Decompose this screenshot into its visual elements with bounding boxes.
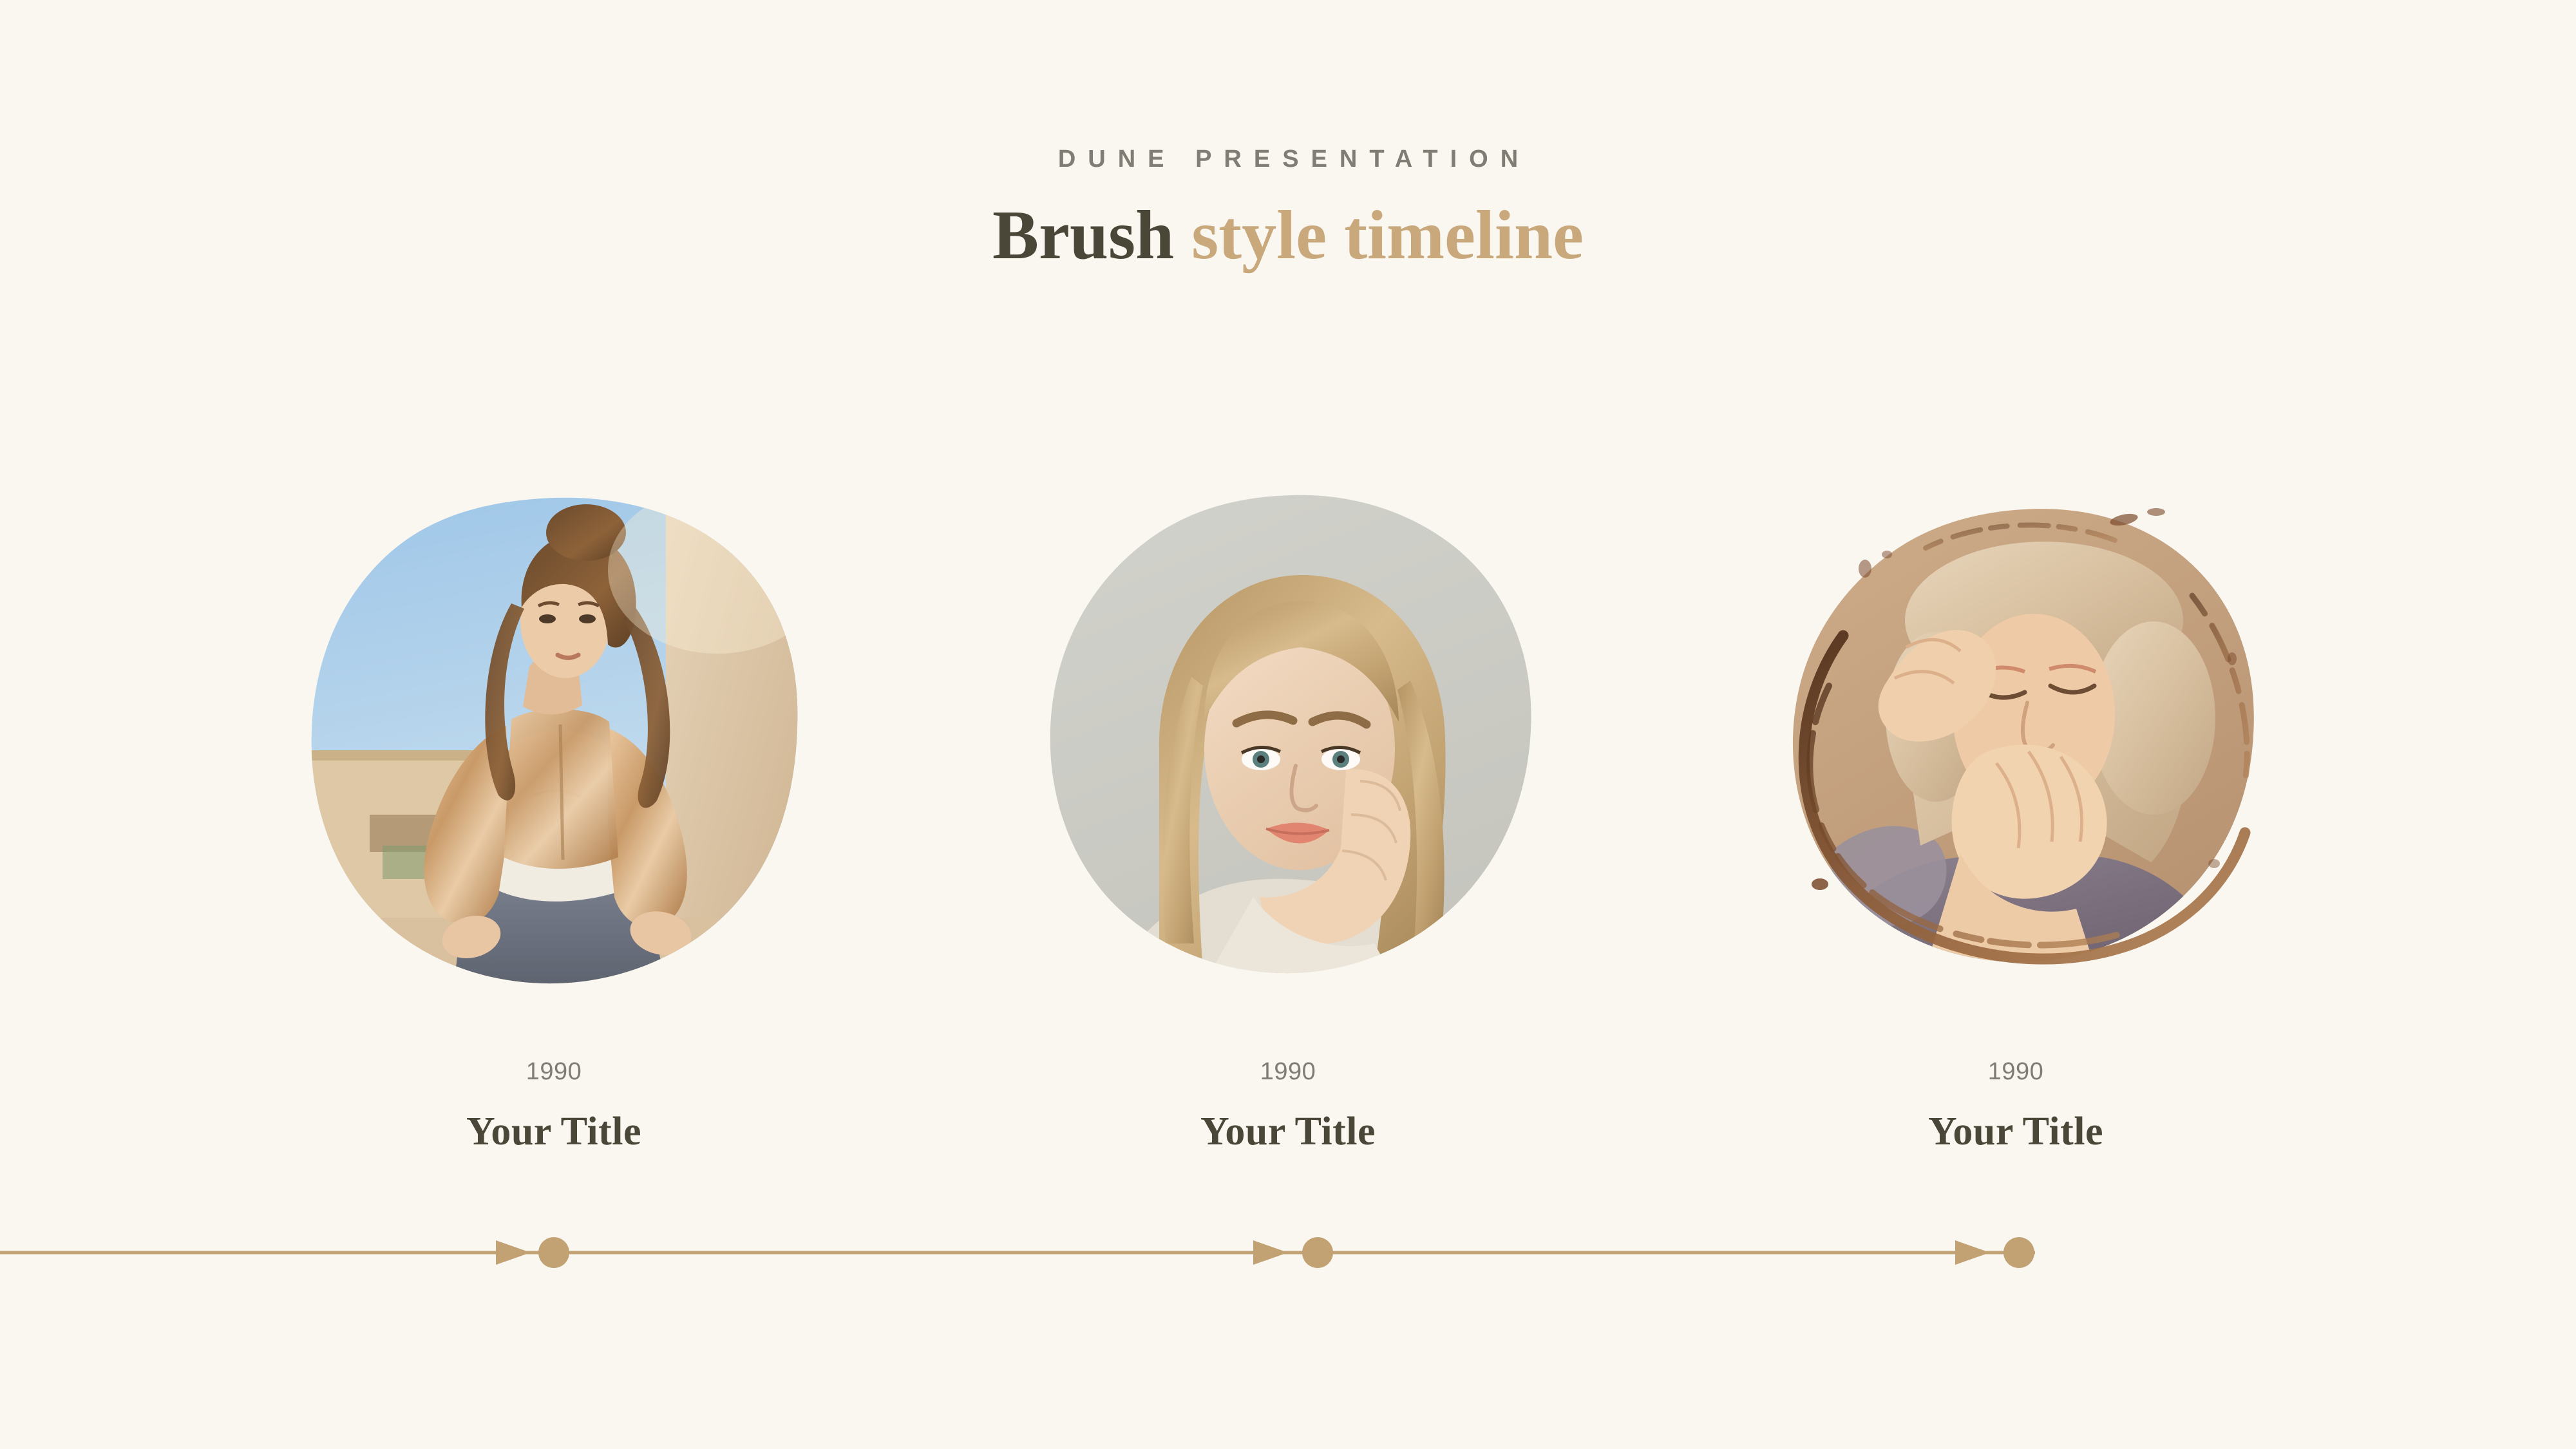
brush-photo-frame	[1767, 493, 2264, 990]
timeline-axis	[0, 1224, 2576, 1288]
timeline-arrow-3	[1955, 1240, 1990, 1265]
item-year: 1990	[1726, 1059, 2306, 1084]
timeline-axis-graphic	[0, 1224, 2576, 1288]
item-year: 1990	[264, 1059, 844, 1084]
timeline-dot-2[interactable]	[1302, 1237, 1333, 1268]
timeline-arrow-2	[1253, 1240, 1288, 1265]
item-year: 1990	[998, 1059, 1578, 1084]
item-title: Your Title	[264, 1110, 844, 1153]
item-title: Your Title	[998, 1110, 1578, 1153]
photo-2	[1039, 493, 1537, 990]
timeline-dot-1[interactable]	[538, 1237, 569, 1268]
timeline-dot-3[interactable]	[2003, 1237, 2034, 1268]
timeline-arrow-1	[496, 1240, 531, 1265]
brush-photo-frame	[1039, 493, 1537, 990]
item-caption: 1990 Your Title	[264, 1059, 844, 1153]
item-caption: 1990 Your Title	[998, 1059, 1578, 1153]
slide-root: DUNE PRESENTATION Brush style timeline	[0, 0, 2576, 1449]
photo-1	[305, 486, 827, 990]
brush-disc-3	[1767, 493, 2264, 990]
brush-photo-frame	[305, 493, 802, 990]
item-caption: 1990 Your Title	[1726, 1059, 2306, 1153]
brush-disc-1	[305, 493, 802, 990]
brush-disc-2	[1039, 493, 1537, 990]
item-title: Your Title	[1726, 1110, 2306, 1153]
